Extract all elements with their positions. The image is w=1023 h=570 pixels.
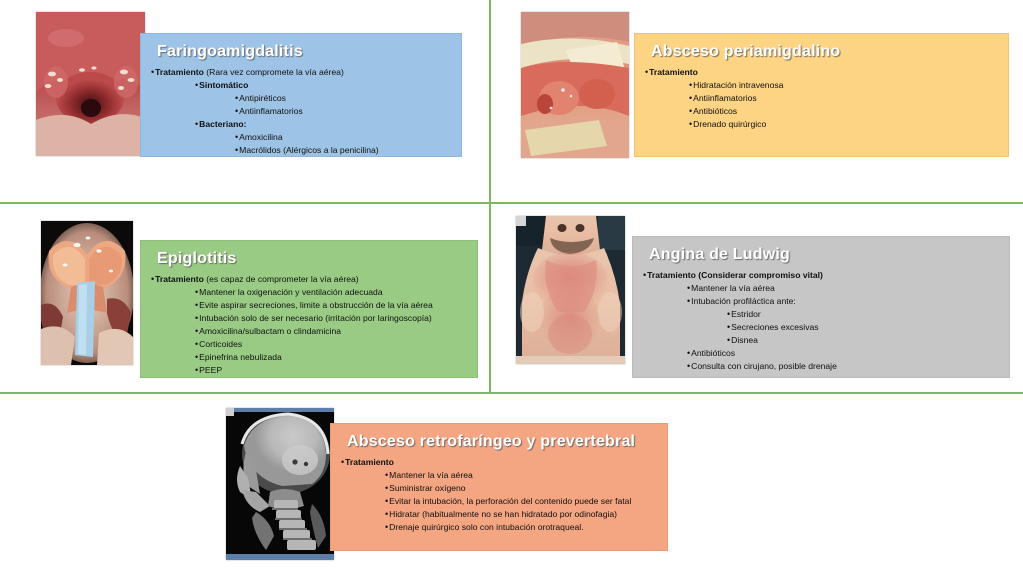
list-item: Evitar la intubación, la perforación del… xyxy=(385,495,635,508)
list-item: Amoxicilina/sulbactam o clindamicina xyxy=(195,325,467,338)
list-item: Antibióticos xyxy=(687,347,999,360)
list-item: Mantener la vía aérea xyxy=(687,282,999,295)
list-item: Tratamiento (Considerar compromiso vital… xyxy=(643,269,999,282)
list-item: Antipiréticos xyxy=(235,92,451,105)
divider-horizontal-top xyxy=(0,202,1023,204)
list-item: Antibióticos xyxy=(689,105,998,118)
list-item: Intubación profiláctica ante: xyxy=(687,295,999,308)
panel-faringoamigdalitis: Faringoamigdalitis Tratamiento (Rara vez… xyxy=(140,33,462,157)
panel-title: Absceso periamigdalino xyxy=(651,43,998,61)
bullet-list: Tratamiento Mantener la vía aérea Sumini… xyxy=(339,456,657,534)
list-item: Epinefrina nebulizada xyxy=(195,351,467,364)
list-item: Tratamiento xyxy=(645,66,998,79)
list-item: Evite aspirar secreciones, limite a obst… xyxy=(195,299,467,312)
list-item: Intubación solo de ser necesario (irrita… xyxy=(195,312,467,325)
pharynx-endoscopic-photo xyxy=(36,12,145,156)
list-item: Mantener la oxigenación y ventilación ad… xyxy=(195,286,467,299)
list-item: Drenaje quirúrgico solo con intubación o… xyxy=(385,521,657,534)
list-item: Hidratar (habitualmente no se han hidrat… xyxy=(385,508,657,521)
list-item: Bacteriano: xyxy=(195,118,451,131)
list-item: Drenado quirúrgico xyxy=(689,118,998,131)
divider-vertical-upper xyxy=(489,0,491,202)
list-item: Antiinflamatorios xyxy=(689,92,998,105)
bullet-list: Tratamiento (Rara vez compromete la vía … xyxy=(149,66,451,157)
list-item: Secreciones excesivas xyxy=(727,321,999,334)
list-item: Suministrar oxígeno xyxy=(385,482,657,495)
list-item: Antiinflamatorios xyxy=(235,105,451,118)
list-item: Mantener la vía aérea xyxy=(385,469,657,482)
list-item: Tratamiento (es capaz de comprometer la … xyxy=(151,273,467,286)
list-item: Amoxicilina xyxy=(235,131,451,144)
bullet-list: Tratamiento Hidratación intravenosa Anti… xyxy=(643,66,998,131)
panel-epiglotitis: Epiglotitis Tratamiento (es capaz de com… xyxy=(140,240,478,378)
list-item: Sintomático xyxy=(195,79,451,92)
panel-angina-de-ludwig: Angina de Ludwig Tratamiento (Considerar… xyxy=(632,236,1010,378)
list-item: Tratamiento (Rara vez compromete la vía … xyxy=(151,66,451,79)
bullet-list: Tratamiento (es capaz de comprometer la … xyxy=(149,273,467,377)
list-item: Corticoides xyxy=(195,338,467,351)
lateral-neck-xray xyxy=(226,408,334,560)
bullet-list: Tratamiento (Considerar compromiso vital… xyxy=(641,269,999,373)
divider-horizontal-bottom xyxy=(0,392,1023,394)
panel-title: Faringoamigdalitis xyxy=(157,43,451,61)
panel-title: Absceso retrofaríngeo y prevertebral xyxy=(347,433,657,451)
divider-vertical-lower xyxy=(489,204,491,392)
panel-absceso-periamigdalino: Absceso periamigdalino Tratamiento Hidra… xyxy=(634,33,1009,157)
list-item: Tratamiento xyxy=(341,456,657,469)
list-item: Consulta con cirujano, posible drenaje xyxy=(687,360,999,373)
peritonsillar-abscess-photo xyxy=(521,12,629,158)
epiglottis-endoscopic-photo xyxy=(41,221,133,365)
panel-title: Epiglotitis xyxy=(157,250,467,268)
ludwig-angina-neck-photo xyxy=(516,216,625,364)
panel-title: Angina de Ludwig xyxy=(649,246,999,264)
list-item: PEEP xyxy=(195,364,467,377)
panel-absceso-retrofaringeo: Absceso retrofaríngeo y prevertebral Tra… xyxy=(330,423,668,551)
list-item: Estridor xyxy=(727,308,999,321)
list-item: Disnea xyxy=(727,334,999,347)
list-item: Macrólidos (Alérgicos a la penicilina) xyxy=(235,144,451,157)
list-item: Hidratación intravenosa xyxy=(689,79,998,92)
